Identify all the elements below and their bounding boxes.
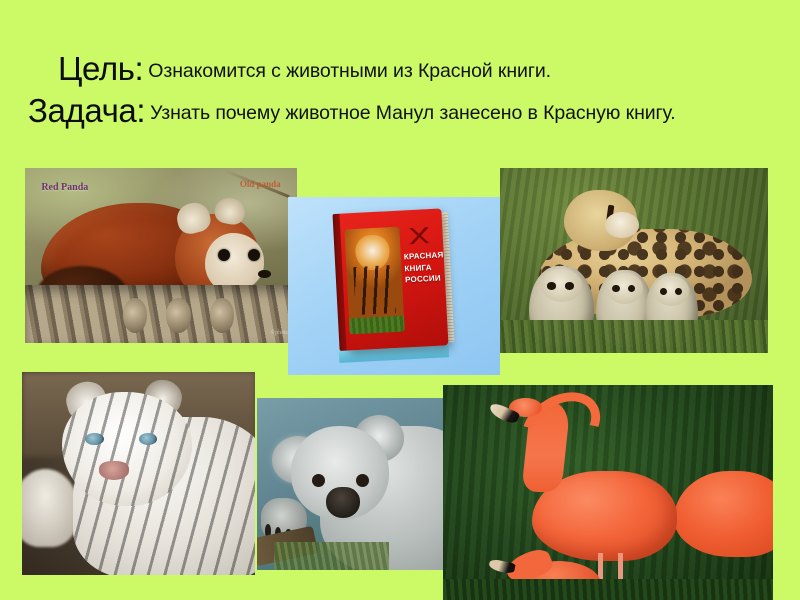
red-panda-eye-left bbox=[218, 249, 230, 261]
red-panda-scene bbox=[25, 168, 297, 343]
goal-line: Цель:Ознакомится с животными из Красной … bbox=[0, 52, 800, 85]
white-tiger-nose bbox=[99, 461, 129, 479]
task-label: Задача: bbox=[28, 92, 145, 129]
photo-koala[interactable] bbox=[257, 398, 467, 570]
photo-white-tiger[interactable] bbox=[22, 372, 255, 575]
red-panda-nose bbox=[258, 270, 272, 279]
log-end-3 bbox=[210, 298, 234, 333]
book-tiger-stripes bbox=[353, 265, 396, 315]
presentation-slide: Цель:Ознакомится с животными из Красной … bbox=[0, 0, 800, 600]
cub-eye-left bbox=[612, 285, 619, 292]
task-text: Узнать почему животное Манул занесено в … bbox=[145, 102, 675, 124]
log-end-1 bbox=[123, 298, 147, 333]
red-panda-eye-right bbox=[248, 249, 260, 261]
flamingo-scene bbox=[443, 385, 773, 600]
photo-red-book-of-russia[interactable]: КРАСНАЯ КНИГА РОССИИ bbox=[288, 197, 500, 375]
white-tiger-head bbox=[62, 392, 192, 506]
photo-cheetah-with-cubs[interactable] bbox=[500, 168, 768, 353]
book-emblem-icon bbox=[408, 227, 431, 245]
cub-eye-right bbox=[565, 282, 573, 289]
goal-label: Цель: bbox=[58, 50, 143, 87]
cub-eye-left bbox=[660, 288, 667, 295]
white-tiger-scene bbox=[22, 372, 255, 575]
white-tiger-second-animal bbox=[22, 469, 78, 546]
goal-text: Ознакомится с животными из Красной книги… bbox=[143, 60, 551, 82]
cub-eye-right bbox=[675, 288, 682, 295]
book-title-text: КРАСНАЯ КНИГА РОССИИ bbox=[404, 250, 443, 287]
koala-leaves bbox=[274, 542, 390, 570]
koala-scene bbox=[257, 398, 467, 570]
red-panda-branch bbox=[223, 169, 290, 198]
cub-eye-left bbox=[547, 282, 555, 289]
photo-flamingos[interactable] bbox=[443, 385, 773, 600]
book-object: КРАСНАЯ КНИГА РОССИИ bbox=[340, 209, 449, 351]
slide-heading-block: Цель:Ознакомится с животными из Красной … bbox=[0, 52, 800, 127]
flamingo-body-right bbox=[674, 471, 773, 557]
photo-red-panda[interactable]: Red Panda Old panda ©photo bbox=[25, 168, 297, 343]
log-end-2 bbox=[166, 298, 190, 333]
book-cover-tiger-photo bbox=[345, 227, 405, 334]
cheetah-grass bbox=[500, 320, 768, 353]
white-tiger-face-stripes bbox=[62, 392, 192, 506]
flamingo-grass bbox=[443, 579, 773, 600]
book-cover: КРАСНАЯ КНИГА РОССИИ bbox=[340, 209, 449, 351]
white-tiger-eye-left bbox=[85, 433, 104, 445]
task-line: Задача:Узнать почему животное Манул зане… bbox=[0, 94, 800, 127]
cheetah-scene bbox=[500, 168, 768, 353]
red-panda-face bbox=[205, 233, 265, 293]
white-tiger-eye-right bbox=[139, 433, 158, 445]
red-panda-log-bridge bbox=[25, 285, 297, 343]
book-tiger-grass bbox=[349, 316, 405, 334]
